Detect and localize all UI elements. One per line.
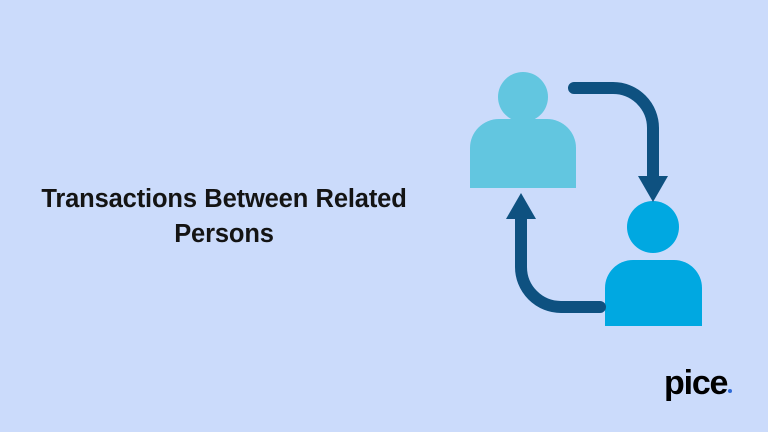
brand-logo: pice: [664, 362, 750, 404]
related-person-two-body: [605, 260, 702, 326]
related-person-one-body: [470, 119, 576, 188]
brand-logo-wordmark: pice: [664, 362, 727, 404]
slide-canvas: Transactions Between Related Persons: [0, 0, 768, 432]
related-person-two-icon: [605, 201, 702, 326]
page-title-text: Transactions Between Related Persons: [22, 182, 426, 252]
related-person-one-head: [498, 72, 548, 122]
related-person-two-head: [627, 201, 679, 253]
two-persons-exchange-illustration: [455, 50, 720, 345]
transaction-arrow-incoming-head: [506, 193, 536, 219]
transaction-arrow-incoming-icon: [506, 193, 600, 307]
transaction-arrow-outgoing-head: [638, 176, 668, 202]
related-person-one-icon: [470, 72, 576, 188]
brand-logo-dot: [728, 389, 732, 393]
transaction-arrow-outgoing-stroke: [574, 88, 653, 178]
page-title: Transactions Between Related Persons: [22, 182, 426, 252]
transaction-arrow-outgoing-icon: [574, 88, 668, 202]
transaction-arrow-incoming-stroke: [521, 217, 600, 307]
